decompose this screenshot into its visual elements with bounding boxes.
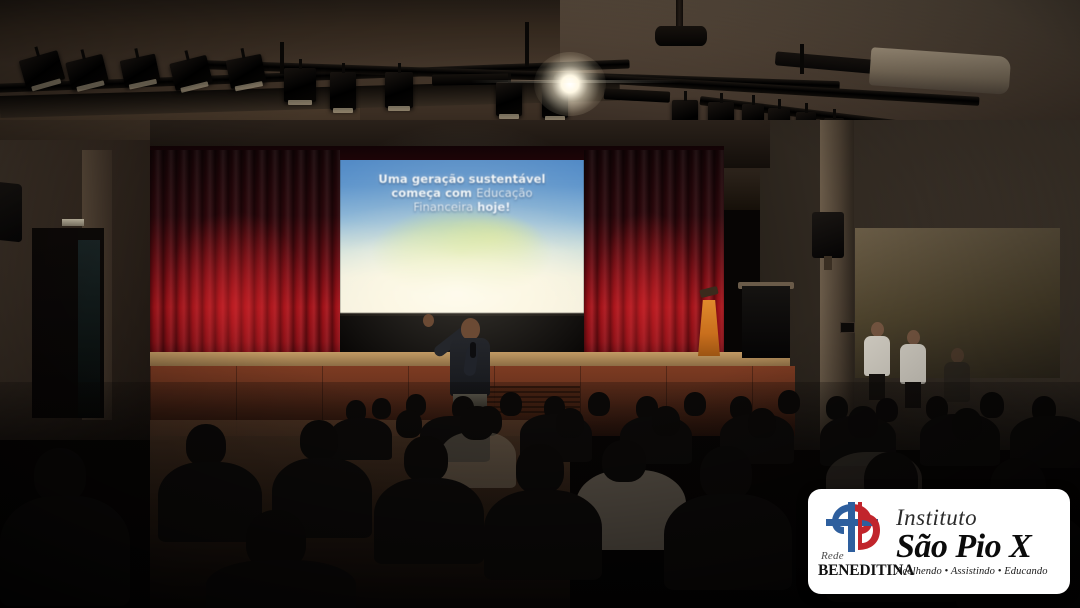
attendee-body [864,336,890,376]
spotlight-icon [496,82,522,116]
spotlight-icon [284,68,316,102]
audience-head [602,440,646,482]
audience-head [652,406,680,436]
audience-head [778,390,800,414]
truss-hanger [800,44,804,74]
audience-head [556,408,584,438]
spotlight-icon [226,54,267,89]
audience-shoulders [330,418,392,460]
attendee-body [900,344,926,384]
audience-head [588,392,610,416]
slide-line-3a: Financeira [413,200,477,214]
slide-line-1: Uma geração sustentável [345,172,579,186]
rede-beneditina-emblem-icon [822,500,888,554]
presenter-microphone-icon [470,342,476,358]
logo-beneditina-text: BENEDITINA [818,562,914,580]
spotlight-lens [499,114,519,119]
projector-mount-pole [676,0,683,28]
wall-speaker-right-icon [812,212,844,258]
audience-head [980,392,1004,418]
curtain-highlight [150,150,340,368]
stage-curtain-left [150,150,340,368]
spotlight-lens [388,106,409,111]
slide-line-3b: hoje! [477,200,511,214]
audience-head [404,436,448,482]
spotlight-icon [542,84,568,118]
attendee-head [951,348,964,363]
slide-line-3: Financeira hoje! [345,200,579,214]
audience-shoulders [374,478,484,564]
audience-head [848,406,878,438]
logo-mark: Rede BENEDITINA [816,498,890,586]
attendee-head [871,322,884,337]
audience-head [500,392,522,416]
projection-screen-text: Uma geração sustentável começa com Educa… [345,172,579,214]
spotlight-icon [120,54,161,88]
audience-head [186,424,226,466]
slide-line-2a: começa com [391,186,476,200]
audience-head [300,420,338,460]
presenter-head [461,318,480,340]
slide-line-2: começa com Educação [345,186,579,200]
audience-shoulders [484,490,602,580]
audience-head [516,444,564,494]
slide-line-2b: Educação [476,186,532,200]
logo-instituto-text: Instituto [896,506,1060,529]
attendee-head [907,330,920,345]
spotlight-icon [385,72,413,108]
speaker-bracket [824,256,832,270]
presenter-hand [423,314,434,327]
spotlight-icon [330,72,356,110]
truss-hanger [525,22,529,66]
audience-shoulders [206,560,356,608]
logo-rede-text: Rede [821,550,844,562]
audience-head [684,392,706,416]
audience-head [34,448,86,502]
audience-shoulders [0,496,130,606]
logo-name-text: São Pio X [896,529,1060,565]
spotlight-lens [333,108,353,113]
audience-head [952,408,982,440]
ceiling-projector-icon [655,26,707,46]
audience-head [372,398,391,419]
audience-head [396,410,422,438]
logo-tagline-text: Acolhendo • Assistindo • Educando [896,566,1060,577]
auditorium-photo: Uma geração sustentável começa com Educa… [0,0,1080,608]
stage-equipment-case [742,286,790,358]
exit-sign [62,219,84,226]
logo-wordmark: Instituto São Pio X Acolhendo • Assistin… [890,506,1060,577]
audience-head [748,408,776,438]
wall-speaker-left-icon [0,182,22,243]
audience-shoulders [664,494,792,590]
wall-outlet [840,322,855,333]
spotlight-lens [288,100,312,105]
audience-head [460,406,494,440]
audience-head [700,446,752,500]
institution-logo: Rede BENEDITINA Instituto São Pio X Acol… [808,489,1070,594]
